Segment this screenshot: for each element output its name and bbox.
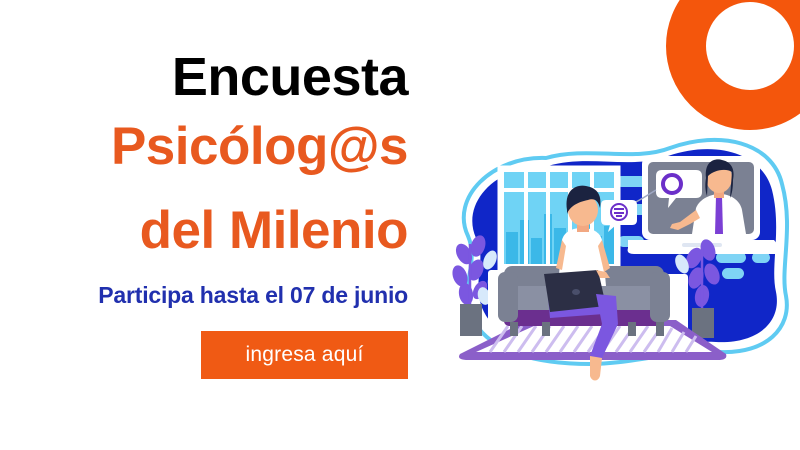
- headline-line-2: Psicólog@s: [111, 118, 408, 175]
- online-therapy-illustration: [420, 128, 800, 428]
- ingresa-aqui-button[interactable]: ingresa aquí: [201, 331, 408, 379]
- scarf: [715, 196, 723, 234]
- orange-ring-decoration: [666, 0, 800, 130]
- deadline-subtitle: Participa hasta el 07 de junio: [98, 281, 408, 309]
- foot: [590, 356, 602, 381]
- couch-leg-4: [656, 322, 664, 336]
- headline-line-1: Encuesta: [172, 50, 408, 104]
- headline-line-3: del Milenio: [140, 202, 408, 259]
- text-column: Encuesta Psicólog@s del Milenio Particip…: [0, 0, 412, 450]
- couch-leg-1: [510, 322, 518, 336]
- promo-banner: Encuesta Psicólog@s del Milenio Particip…: [0, 0, 800, 450]
- couch-leg-3: [628, 322, 636, 336]
- couch-leg-2: [542, 322, 550, 336]
- couch-arm-right: [650, 272, 670, 322]
- couch-arm-left: [498, 272, 518, 322]
- plant-left-pot: [460, 304, 482, 336]
